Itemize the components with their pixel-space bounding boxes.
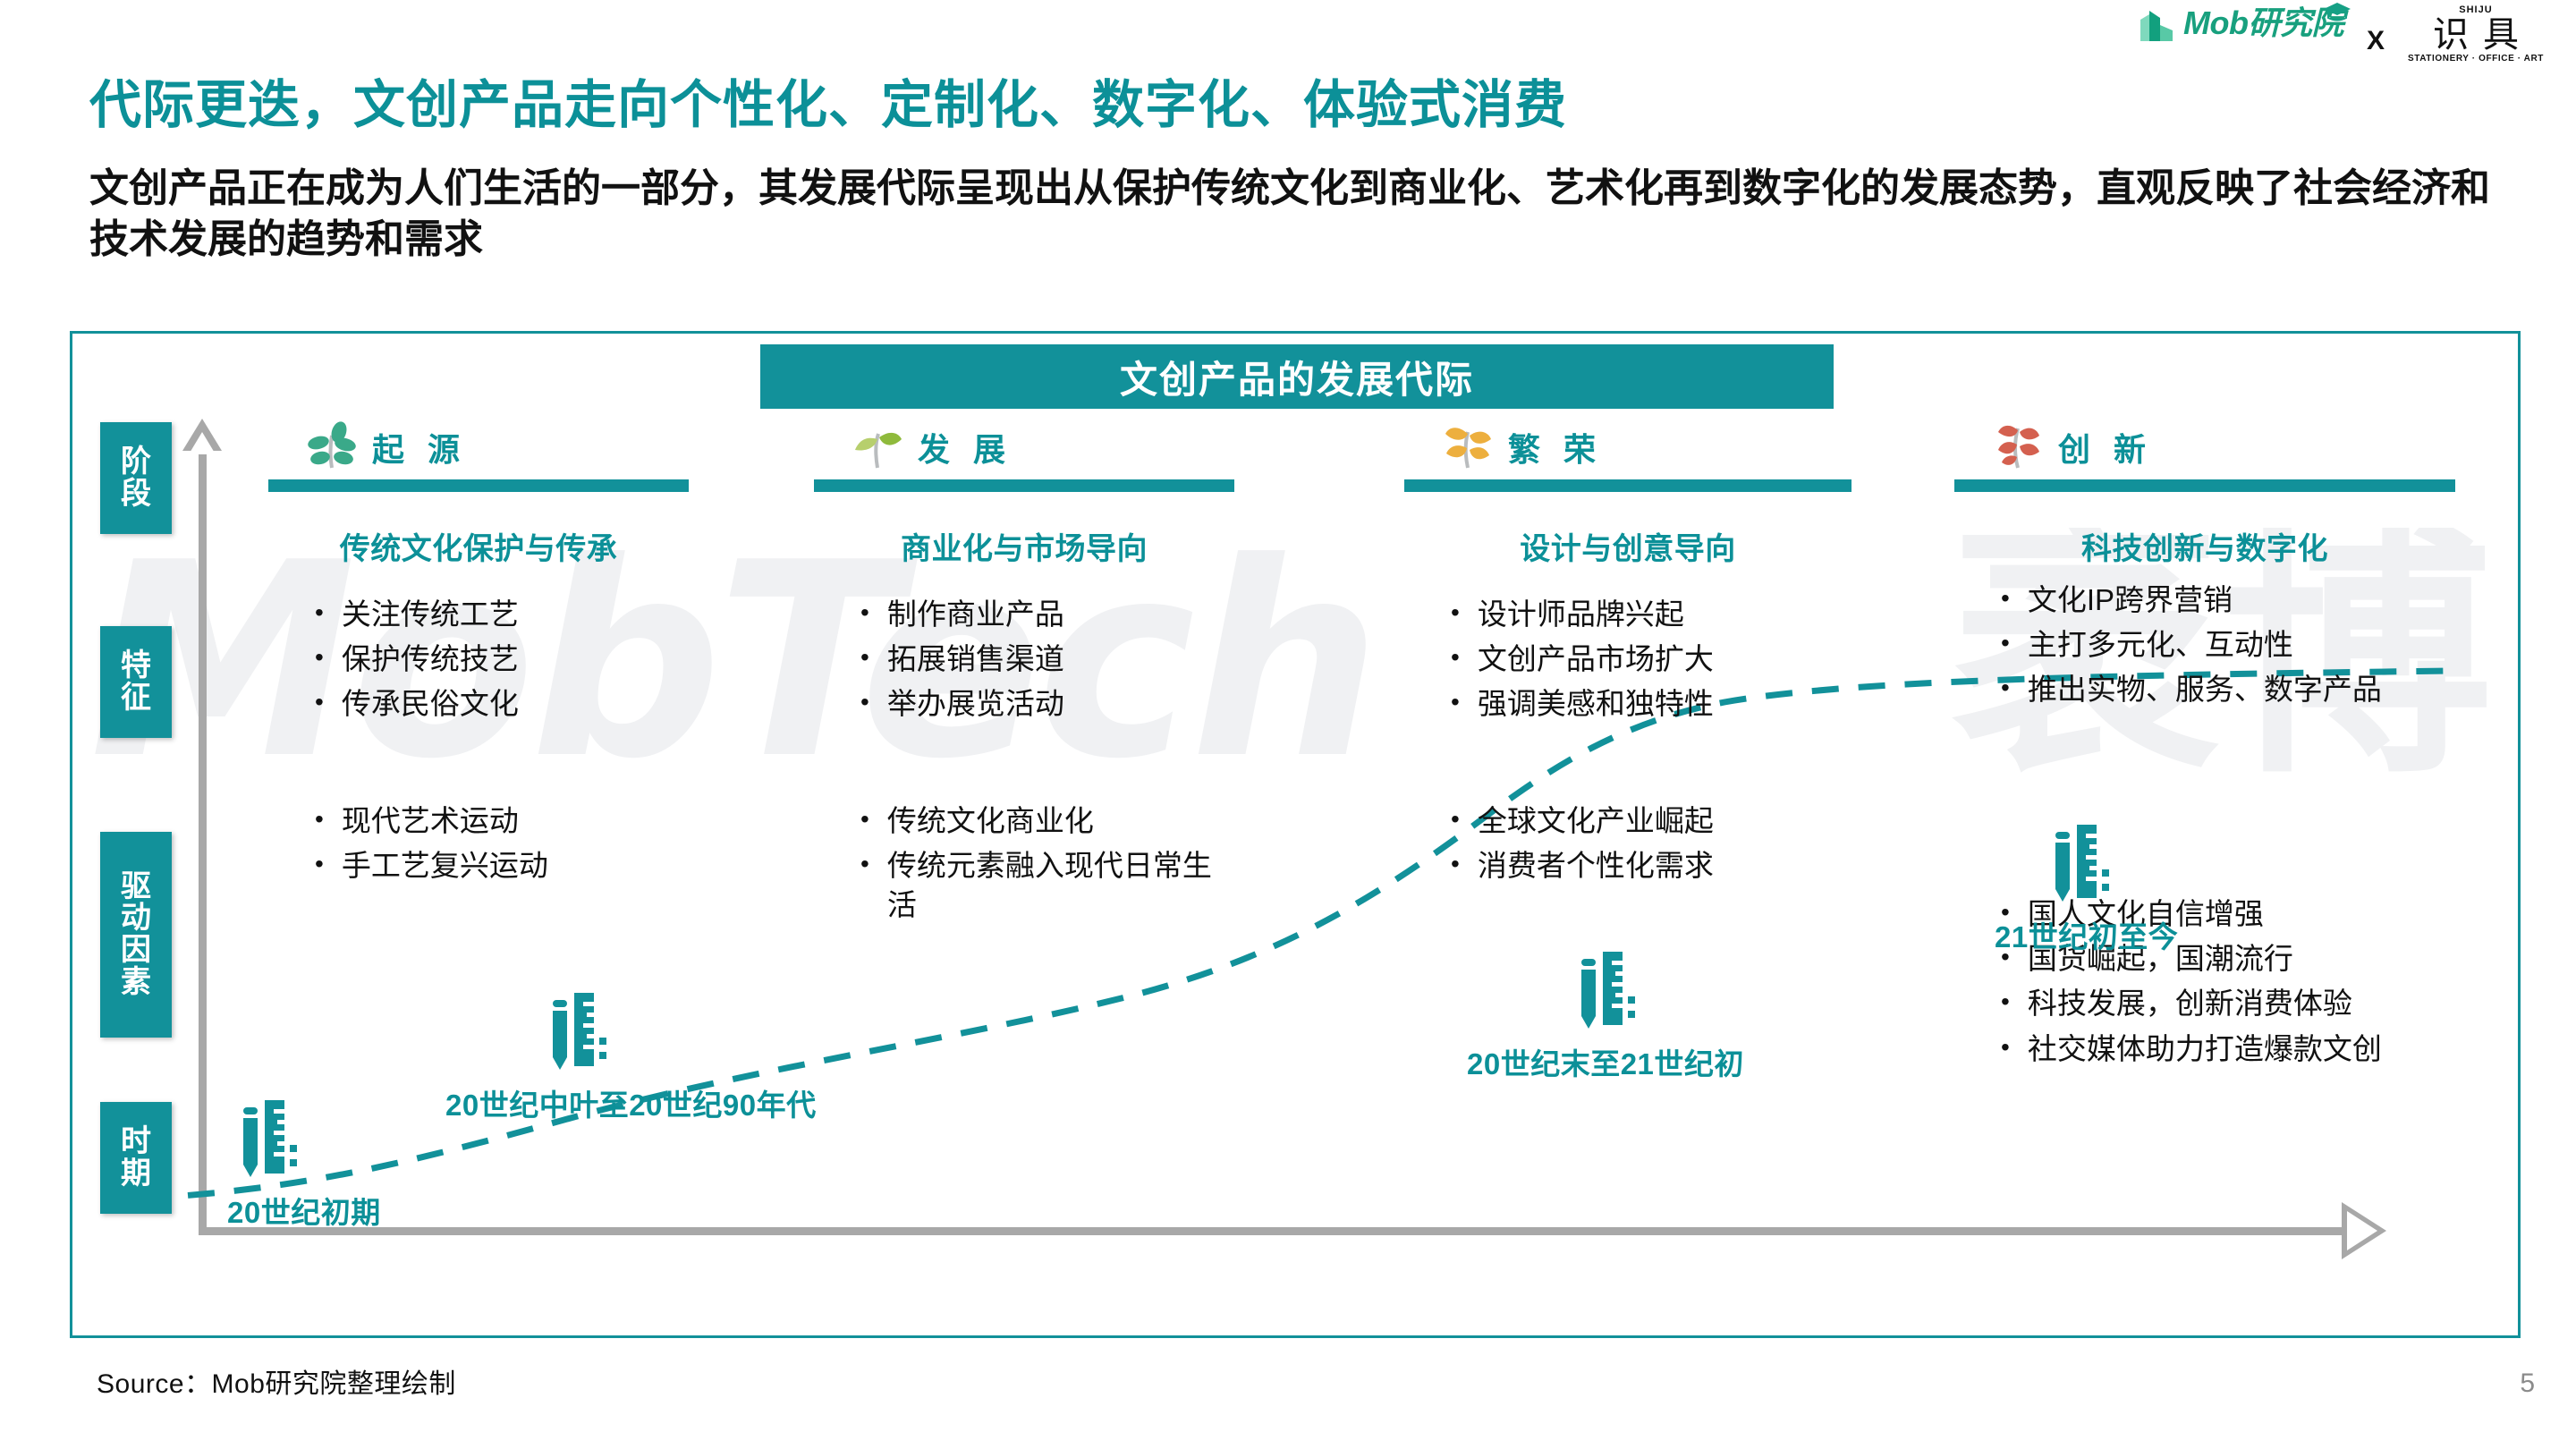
column-header-label: 发 展 bbox=[918, 424, 1013, 470]
column-header: 创 新 bbox=[1954, 420, 2455, 474]
logo-bar: Mob研究院 X SHIJU 识具 STATIONERY · OFFICE · … bbox=[2137, 5, 2544, 64]
column-stage-title: 科技创新与数字化 bbox=[1954, 524, 2455, 568]
list-item: •关注传统工艺 bbox=[315, 595, 689, 634]
column-feature-list: •文化IP跨界营销 •主打多元化、互动性 •推出实物、服务、数字产品 bbox=[1954, 580, 2466, 710]
bullet-icon: • bbox=[2001, 984, 2010, 1021]
column-header-label: 繁 荣 bbox=[1508, 424, 1603, 470]
column-stage-title: 商业化与市场导向 bbox=[814, 524, 1234, 568]
ruler-pencil-icon bbox=[1572, 1021, 1639, 1036]
column-rule bbox=[1954, 479, 2455, 492]
row-label-char: 特 bbox=[121, 650, 151, 682]
list-item-text: 传承民俗文化 bbox=[342, 684, 689, 724]
bullet-icon: • bbox=[2001, 580, 2010, 617]
list-item-text: 主打多元化、互动性 bbox=[2028, 625, 2466, 665]
period-marker-prosperity: 20世纪末至21世纪初 bbox=[1572, 950, 1744, 1083]
column-stage-title: 设计与创意导向 bbox=[1404, 524, 1851, 568]
row-label-char: 素 bbox=[121, 967, 151, 999]
bullet-icon: • bbox=[315, 846, 324, 883]
period-marker-innovation: 21世纪初至今 bbox=[2046, 823, 2178, 956]
graduation-cap-icon bbox=[2322, 0, 2352, 26]
mob-logo-text: Mob研究院 bbox=[2183, 7, 2343, 39]
list-item-text: 科技发展，创新消费体验 bbox=[2028, 984, 2491, 1023]
period-label: 21世纪初至今 bbox=[1995, 913, 2178, 956]
bullet-icon: • bbox=[315, 801, 324, 838]
row-label-driver: 驱 动 因 素 bbox=[100, 832, 172, 1038]
row-label-char: 时 bbox=[121, 1126, 151, 1158]
column-feature-list: •关注传统工艺 •保护传统技艺 •传承民俗文化 bbox=[268, 595, 689, 724]
list-item-text: 全球文化产业崛起 bbox=[1478, 801, 1851, 841]
y-axis-arrow-inner bbox=[189, 432, 216, 454]
list-item-text: 保护传统技艺 bbox=[342, 640, 689, 679]
column-stage-title: 传统文化保护与传承 bbox=[268, 524, 689, 568]
column-header: 发 展 bbox=[814, 420, 1234, 474]
page-number: 5 bbox=[2520, 1368, 2535, 1399]
list-item: •消费者个性化需求 bbox=[1451, 846, 1851, 885]
row-label-char: 阶 bbox=[121, 446, 151, 479]
generation-column-origin: 起 源 传统文化保护与传承 •关注传统工艺 •保护传统技艺 •传承民俗文化 •现… bbox=[268, 420, 689, 891]
blooming-plant-icon bbox=[1440, 421, 1496, 474]
list-item: •传承民俗文化 bbox=[315, 684, 689, 724]
source-note: Source：Mob研究院整理绘制 bbox=[97, 1361, 456, 1401]
row-label-feature: 特 征 bbox=[100, 626, 172, 738]
list-item: •传统元素融入现代日常生活 bbox=[860, 846, 1218, 925]
row-label-char: 期 bbox=[121, 1158, 151, 1191]
list-item-text: 传统文化商业化 bbox=[887, 801, 1218, 841]
list-item: •设计师品牌兴起 bbox=[1451, 595, 1851, 634]
sapling-icon bbox=[304, 421, 360, 474]
column-rule bbox=[1404, 479, 1851, 492]
list-item: •保护传统技艺 bbox=[315, 640, 689, 679]
list-item-text: 社交媒体助力打造爆款文创 bbox=[2028, 1030, 2491, 1069]
mature-plant-icon bbox=[1990, 421, 2046, 474]
list-item-text: 传统元素融入现代日常生活 bbox=[887, 846, 1218, 925]
period-label: 20世纪初期 bbox=[227, 1189, 381, 1232]
row-label-char: 段 bbox=[121, 479, 151, 511]
column-feature-list: •设计师品牌兴起 •文创产品市场扩大 •强调美感和独特性 bbox=[1404, 595, 1851, 724]
list-item: •文化IP跨界营销 bbox=[2001, 580, 2466, 620]
row-label-stage: 阶 段 bbox=[100, 422, 172, 534]
x-axis-arrow-inner bbox=[2347, 1211, 2377, 1250]
list-item: •强调美感和独特性 bbox=[1451, 684, 1851, 724]
mob-logo: Mob研究院 bbox=[2137, 5, 2343, 41]
period-label: 20世纪中叶至20世纪90年代 bbox=[445, 1081, 817, 1124]
list-item: •举办展览活动 bbox=[860, 684, 1234, 724]
row-label-char: 动 bbox=[121, 902, 151, 935]
list-item-text: 现代艺术运动 bbox=[342, 801, 689, 841]
list-item: •科技发展，创新消费体验 bbox=[2001, 984, 2491, 1023]
section-banner: 文创产品的发展代际 bbox=[760, 344, 1834, 409]
shiju-name: 识具 bbox=[2433, 17, 2533, 53]
list-item: •全球文化产业崛起 bbox=[1451, 801, 1851, 841]
page-subtitle: 文创产品正在成为人们生活的一部分，其发展代际呈现出从保护传统文化到商业化、艺术化… bbox=[89, 163, 2504, 265]
bullet-icon: • bbox=[2001, 1030, 2010, 1066]
column-header: 起 源 bbox=[268, 420, 689, 474]
list-item: •主打多元化、互动性 bbox=[2001, 625, 2466, 665]
list-item-text: 手工艺复兴运动 bbox=[342, 846, 689, 885]
ruler-pencil-icon bbox=[544, 1062, 610, 1077]
bullet-icon: • bbox=[860, 640, 869, 676]
bullet-icon: • bbox=[1451, 684, 1460, 721]
shiju-logo: SHIJU 识具 STATIONERY · OFFICE · ART bbox=[2408, 5, 2544, 64]
period-marker-development: 20世纪中叶至20世纪90年代 bbox=[544, 991, 817, 1124]
bullet-icon: • bbox=[860, 684, 869, 721]
list-item-text: 强调美感和独特性 bbox=[1478, 684, 1851, 724]
list-item: •推出实物、服务、数字产品 bbox=[2001, 670, 2466, 709]
list-item: •现代艺术运动 bbox=[315, 801, 689, 841]
list-item: •文创产品市场扩大 bbox=[1451, 640, 1851, 679]
sprout-icon bbox=[850, 421, 905, 474]
bullet-icon: • bbox=[315, 684, 324, 721]
generation-column-development: 发 展 商业化与市场导向 •制作商业产品 •拓展销售渠道 •举办展览活动 •传统… bbox=[814, 420, 1234, 930]
list-item-text: 拓展销售渠道 bbox=[887, 640, 1234, 679]
row-label-char: 因 bbox=[121, 935, 151, 967]
generation-column-prosperity: 繁 荣 设计与创意导向 •设计师品牌兴起 •文创产品市场扩大 •强调美感和独特性… bbox=[1404, 420, 1851, 891]
column-rule bbox=[268, 479, 689, 492]
y-axis-line bbox=[199, 447, 207, 1234]
column-feature-list: •制作商业产品 •拓展销售渠道 •举办展览活动 bbox=[814, 595, 1234, 724]
generation-column-innovation: 创 新 科技创新与数字化 •文化IP跨界营销 •主打多元化、互动性 •推出实物、… bbox=[1954, 420, 2455, 716]
bullet-icon: • bbox=[860, 846, 869, 883]
bullet-icon: • bbox=[315, 640, 324, 676]
period-label: 20世纪末至21世纪初 bbox=[1467, 1040, 1744, 1083]
list-item-text: 制作商业产品 bbox=[887, 595, 1234, 634]
mob-building-icon bbox=[2137, 5, 2176, 41]
bullet-icon: • bbox=[860, 801, 869, 838]
row-label-char: 征 bbox=[121, 682, 151, 715]
list-item-text: 关注传统工艺 bbox=[342, 595, 689, 634]
list-item-text: 文化IP跨界营销 bbox=[2028, 580, 2466, 620]
page-title: 代际更迭，文创产品走向个性化、定制化、数字化、体验式消费 bbox=[89, 63, 1567, 138]
list-item: •手工艺复兴运动 bbox=[315, 846, 689, 885]
x-axis-line bbox=[199, 1227, 2345, 1235]
period-marker-origin: 20世纪初期 bbox=[234, 1098, 381, 1232]
row-label-char: 驱 bbox=[121, 871, 151, 903]
list-item-text: 推出实物、服务、数字产品 bbox=[2028, 670, 2466, 709]
list-item: •传统文化商业化 bbox=[860, 801, 1218, 841]
column-header-label: 创 新 bbox=[2058, 424, 2153, 470]
bullet-icon: • bbox=[315, 595, 324, 631]
list-item-text: 举办展览活动 bbox=[887, 684, 1234, 724]
bullet-icon: • bbox=[1451, 595, 1460, 631]
bullet-icon: • bbox=[2001, 670, 2010, 707]
column-driver-list: •现代艺术运动 •手工艺复兴运动 bbox=[268, 801, 689, 885]
logo-separator: X bbox=[2367, 13, 2385, 56]
column-header-label: 起 源 bbox=[372, 424, 467, 470]
list-item-text: 文创产品市场扩大 bbox=[1478, 640, 1851, 679]
list-item: •社交媒体助力打造爆款文创 bbox=[2001, 1030, 2491, 1069]
section-banner-title: 文创产品的发展代际 bbox=[1120, 350, 1474, 404]
column-header: 繁 荣 bbox=[1404, 420, 1851, 474]
ruler-pencil-icon bbox=[2046, 894, 2113, 909]
bullet-icon: • bbox=[2001, 625, 2010, 662]
bullet-icon: • bbox=[1451, 640, 1460, 676]
list-item: •拓展销售渠道 bbox=[860, 640, 1234, 679]
list-item-text: 设计师品牌兴起 bbox=[1478, 595, 1851, 634]
ruler-pencil-icon bbox=[234, 1169, 301, 1184]
bullet-icon: • bbox=[1451, 846, 1460, 883]
column-driver-list: •全球文化产业崛起 •消费者个性化需求 bbox=[1404, 801, 1851, 885]
list-item-text: 消费者个性化需求 bbox=[1478, 846, 1851, 885]
list-item: •制作商业产品 bbox=[860, 595, 1234, 634]
column-driver-list: •传统文化商业化 •传统元素融入现代日常生活 bbox=[814, 801, 1218, 926]
bullet-icon: • bbox=[1451, 801, 1460, 838]
shiju-tagline: STATIONERY · OFFICE · ART bbox=[2408, 55, 2544, 64]
column-rule bbox=[814, 479, 1234, 492]
shiju-pinyin: SHIJU bbox=[2459, 5, 2492, 15]
row-label-period: 时 期 bbox=[100, 1102, 172, 1214]
bullet-icon: • bbox=[860, 595, 869, 631]
